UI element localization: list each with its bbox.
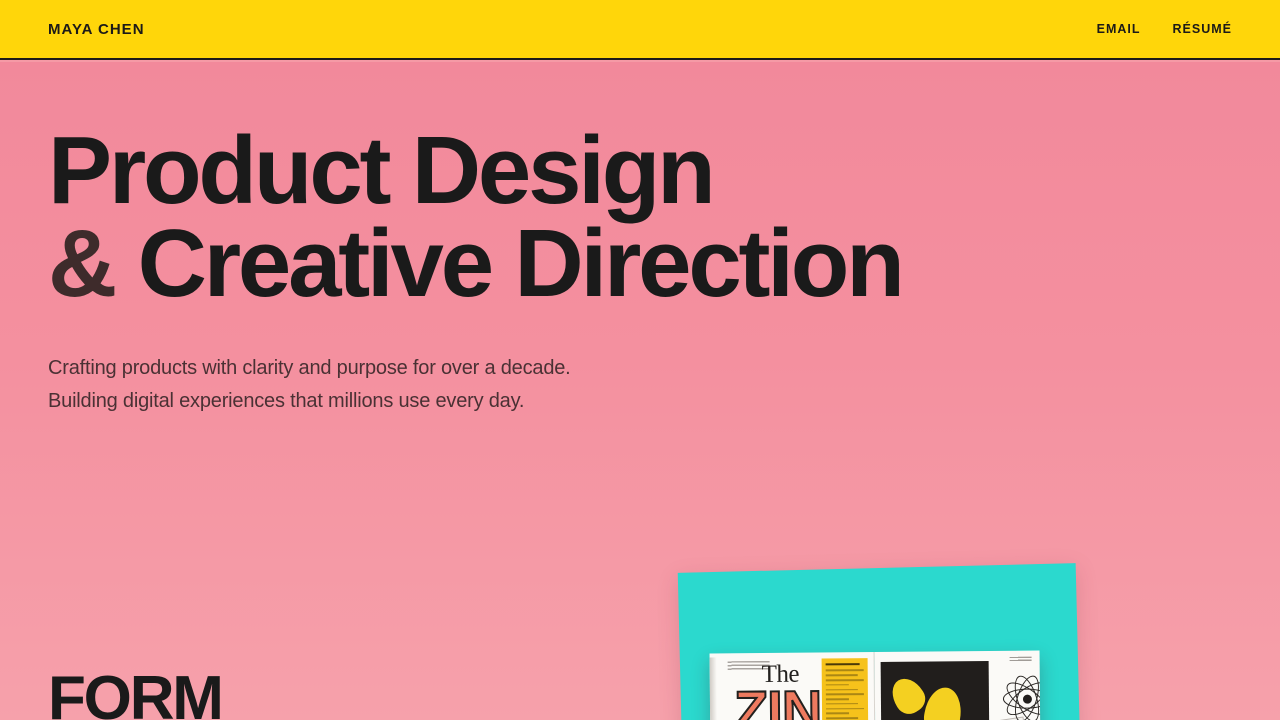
ampersand-glyph: &: [48, 210, 114, 317]
atom-nucleus: [1022, 694, 1031, 703]
portfolio-landing-page: MAYA CHEN EMAIL RÉSUMÉ Product Design & …: [0, 0, 1280, 720]
site-header: MAYA CHEN EMAIL RÉSUMÉ: [0, 0, 1280, 60]
sidebar-text-line: [826, 717, 858, 719]
headline-line-2: & Creative Direction: [48, 217, 1280, 310]
sidebar-text-line: [826, 669, 864, 671]
nav-link-resume[interactable]: RÉSUMÉ: [1173, 22, 1232, 36]
hero-artwork: The ZIN: [672, 556, 1092, 720]
magazine-right-page: [875, 651, 1041, 720]
magazine-left-page: The ZIN: [710, 652, 876, 720]
sidebar-text-line: [826, 703, 858, 705]
brand-name[interactable]: MAYA CHEN: [48, 21, 145, 38]
page-title: Product Design & Creative Direction: [48, 124, 1280, 310]
sidebar-text-line: [826, 708, 864, 710]
subtitle-line-1: Crafting products with clarity and purpo…: [48, 352, 1280, 384]
black-illustration-panel: [881, 661, 990, 720]
pear-shape-icon: [921, 685, 964, 720]
sidebar-text-line: [826, 684, 849, 686]
sidebar-text-line: [826, 689, 858, 691]
sidebar-text-line: [826, 679, 864, 681]
sidebar-heading-rule: [826, 663, 860, 666]
sidebar-text-line: [826, 693, 864, 695]
hero-section: Product Design & Creative Direction Craf…: [0, 62, 1280, 417]
primary-nav: EMAIL RÉSUMÉ: [1097, 22, 1232, 36]
open-magazine: The ZIN: [710, 651, 1041, 720]
nav-link-email[interactable]: EMAIL: [1097, 22, 1141, 36]
page-folio-number: [1010, 657, 1032, 662]
sidebar-text-line: [826, 713, 849, 715]
sidebar-text-line: [826, 698, 849, 700]
atom-diagram-icon: [1001, 672, 1041, 720]
hero-subtitle: Crafting products with clarity and purpo…: [48, 352, 1280, 417]
magazine-zin-word: ZIN: [734, 682, 822, 720]
sidebar-text-line: [826, 674, 858, 676]
subtitle-line-2: Building digital experiences that millio…: [48, 385, 1280, 417]
page-edge: [710, 657, 718, 720]
section-heading-form: FORM: [48, 668, 222, 720]
headline-line-2-text: Creative Direction: [114, 210, 902, 317]
yellow-sidebar-column: [822, 658, 869, 720]
pear-shape-icon: [886, 672, 931, 718]
headline-line-1: Product Design: [48, 124, 1280, 217]
